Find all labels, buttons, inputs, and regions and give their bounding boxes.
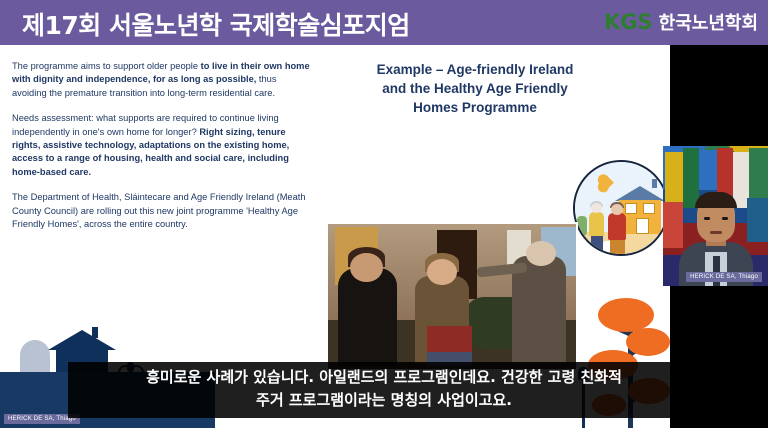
- photo-person-right-head: [526, 241, 556, 266]
- subtitle-line-1: 흥미로운 사례가 있습니다. 아일랜드의 프로그램인데요. 건강한 고령 친화적: [78, 366, 690, 389]
- house-window-icon: [643, 203, 655, 214]
- kgs-korean-name: 한국노년학회: [659, 9, 758, 35]
- slide-title-line-2: and the Healthy Age Friendly: [330, 79, 620, 98]
- house-roof-icon: [615, 186, 665, 201]
- photo-person-left: [338, 268, 398, 367]
- participant-hair: [695, 192, 737, 208]
- participant-mouth: [710, 231, 722, 234]
- subtitle-line-2: 주거 프로그램이라는 명칭의 사업이고요.: [78, 389, 690, 412]
- paragraph-aims: The programme aims to support older peop…: [12, 60, 312, 100]
- older-people-photo: [326, 222, 578, 371]
- person-body-yellow: [589, 212, 604, 236]
- text-run: The Department of Health, Sláintecare an…: [12, 192, 306, 229]
- plant-icon: [577, 216, 587, 236]
- slide-body-text: The programme aims to support older peop…: [12, 60, 312, 243]
- screen-capture: 제17회 서울노년학 국제학술심포지엄 KGS 한국노년학회 The progr…: [0, 0, 768, 428]
- subtitle-overlay: 흥미로운 사례가 있습니다. 아일랜드의 프로그램인데요. 건강한 고령 친화적…: [68, 362, 700, 418]
- participant-eye-left: [704, 217, 710, 220]
- tree-foliage: [626, 328, 670, 356]
- slide-title-line-1: Example – Age-friendly Ireland: [330, 60, 620, 79]
- flag: [717, 148, 733, 196]
- text-run: The programme aims to support older peop…: [12, 61, 201, 71]
- paragraph-department: The Department of Health, Sláintecare an…: [12, 191, 312, 231]
- house-door-icon: [636, 218, 649, 234]
- paragraph-needs-assessment: Needs assessment: what supports are requ…: [12, 112, 312, 179]
- slide-title: Example – Age-friendly Ireland and the H…: [330, 60, 620, 117]
- kgs-logo: KGS 한국노년학회: [604, 9, 758, 35]
- banner-title: 제17회 서울노년학 국제학술심포지엄: [22, 6, 410, 42]
- person-legs: [591, 235, 603, 250]
- person-head: [611, 204, 623, 215]
- symposium-banner: 제17회 서울노년학 국제학술심포지엄 KGS 한국노년학회: [0, 0, 768, 45]
- roof-icon: [48, 330, 116, 350]
- house-window-icon: [625, 203, 637, 214]
- photo-accordion: [427, 326, 472, 352]
- photo-person-left-head: [350, 253, 382, 282]
- person-legs: [610, 238, 625, 254]
- tree-foliage: [598, 298, 654, 332]
- flag: [699, 150, 717, 190]
- older-couple-house-icon: [573, 160, 669, 256]
- slide-title-line-3: Homes Programme: [330, 98, 620, 117]
- participant-eye-right: [722, 217, 728, 220]
- photo-person-center-head: [427, 259, 457, 285]
- person-body-red: [608, 213, 626, 240]
- person-head: [591, 203, 602, 213]
- webcam-tile[interactable]: HERICK DE SA, Thiago: [663, 146, 768, 286]
- kgs-abbreviation: KGS: [604, 10, 653, 34]
- participant-nametag: HERICK DE SA, Thiago: [686, 272, 762, 282]
